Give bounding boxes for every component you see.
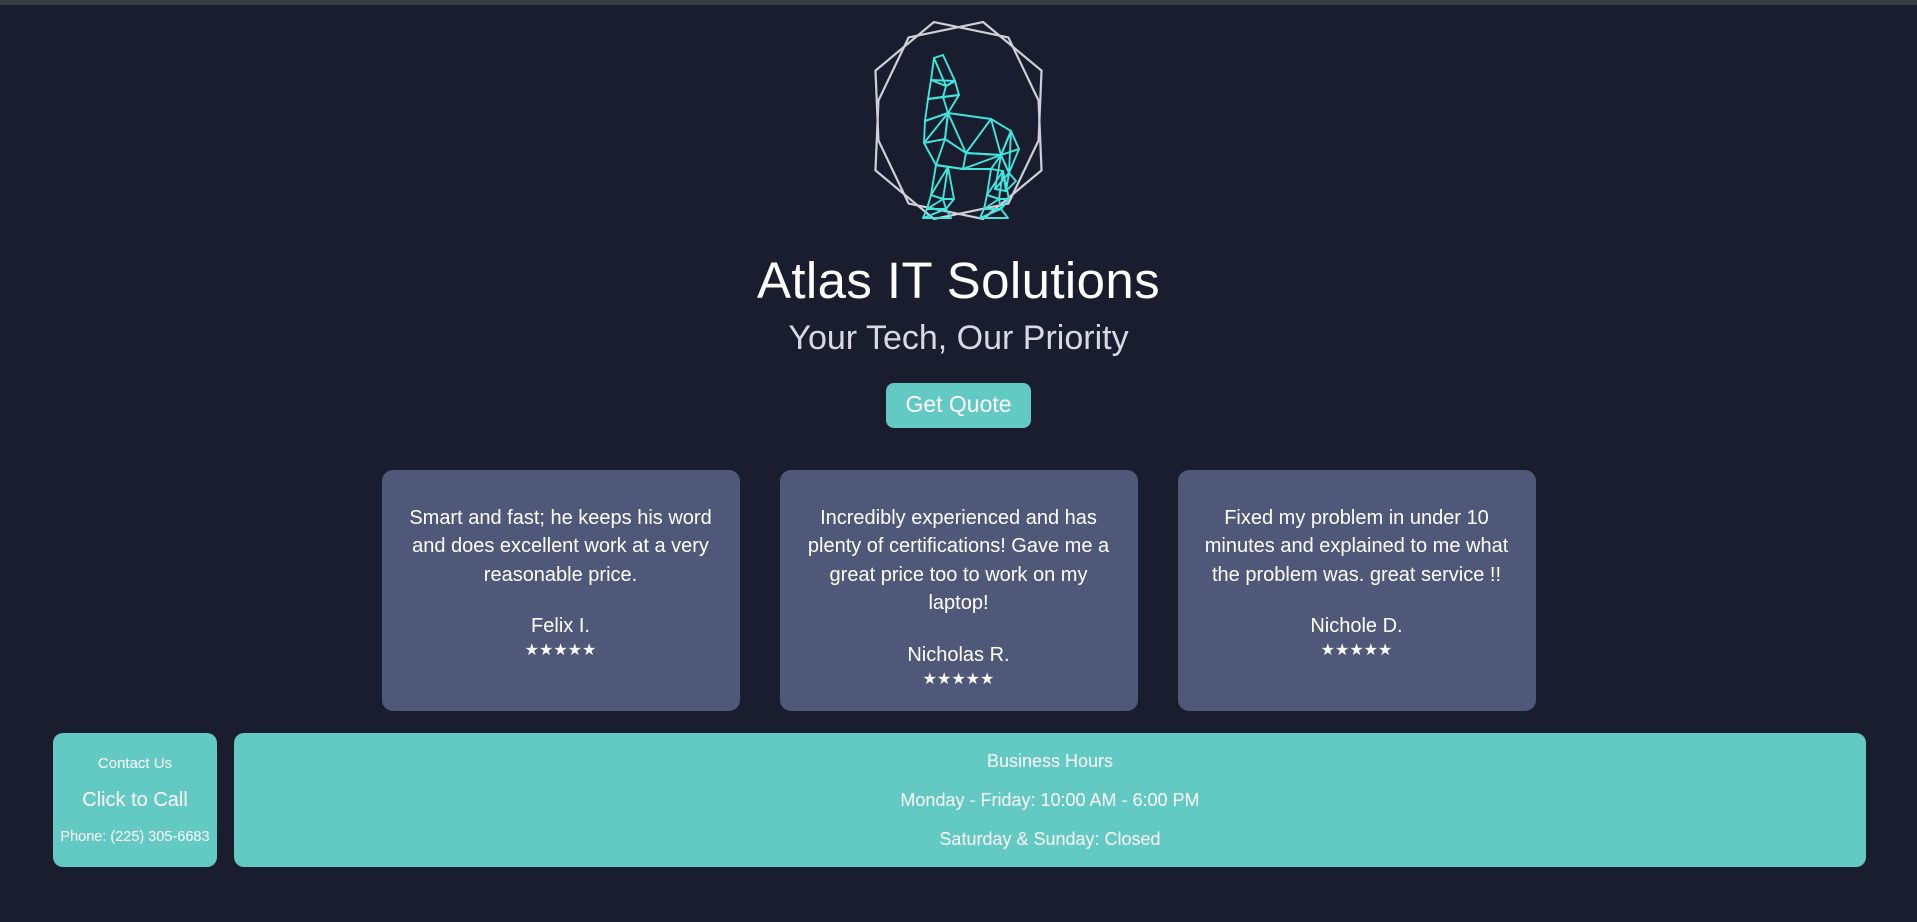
testimonial-rating-stars: ★★★★★ xyxy=(923,670,995,689)
testimonial-author: Nicholas R. xyxy=(907,644,1009,667)
business-hours-weekday: Monday - Friday: 10:00 AM - 6:00 PM xyxy=(900,790,1199,811)
testimonial-rating-stars: ★★★★★ xyxy=(1321,641,1393,660)
testimonial-quote: Incredibly experienced and has plenty of… xyxy=(806,504,1112,618)
business-hours-title: Business Hours xyxy=(987,751,1113,772)
business-hours-weekend: Saturday & Sunday: Closed xyxy=(939,829,1160,850)
testimonial-card: Smart and fast; he keeps his word and do… xyxy=(382,470,740,711)
landing-page: Atlas IT Solutions Your Tech, Our Priori… xyxy=(0,5,1917,922)
contact-heading: Contact Us xyxy=(98,755,172,772)
testimonial-card: Fixed my problem in under 10 minutes and… xyxy=(1178,470,1536,711)
contact-phone-number: Phone: (225) 305-6683 xyxy=(60,829,209,845)
page-title: Atlas IT Solutions xyxy=(0,254,1917,308)
testimonial-rating-stars: ★★★★★ xyxy=(525,641,597,660)
testimonials-section: Smart and fast; he keeps his word and do… xyxy=(0,470,1917,711)
get-quote-button[interactable]: Get Quote xyxy=(886,383,1030,428)
testimonial-quote: Fixed my problem in under 10 minutes and… xyxy=(1204,504,1510,589)
logo-container xyxy=(0,5,1917,228)
testimonial-card: Incredibly experienced and has plenty of… xyxy=(780,470,1138,711)
cta-row: Get Quote xyxy=(0,383,1917,428)
business-hours-panel: Business Hours Monday - Friday: 10:00 AM… xyxy=(234,733,1866,867)
footer-row: Contact Us Click to Call Phone: (225) 30… xyxy=(53,733,1866,867)
click-to-call-link[interactable]: Click to Call xyxy=(82,789,188,812)
contact-card[interactable]: Contact Us Click to Call Phone: (225) 30… xyxy=(53,733,217,867)
brand-tagline: Your Tech, Our Priority xyxy=(0,320,1917,357)
testimonial-author: Nichole D. xyxy=(1310,615,1402,638)
testimonial-quote: Smart and fast; he keeps his word and do… xyxy=(408,504,714,589)
testimonial-author: Felix I. xyxy=(531,615,590,638)
geometric-wolf-hexagon-logo xyxy=(851,13,1066,228)
